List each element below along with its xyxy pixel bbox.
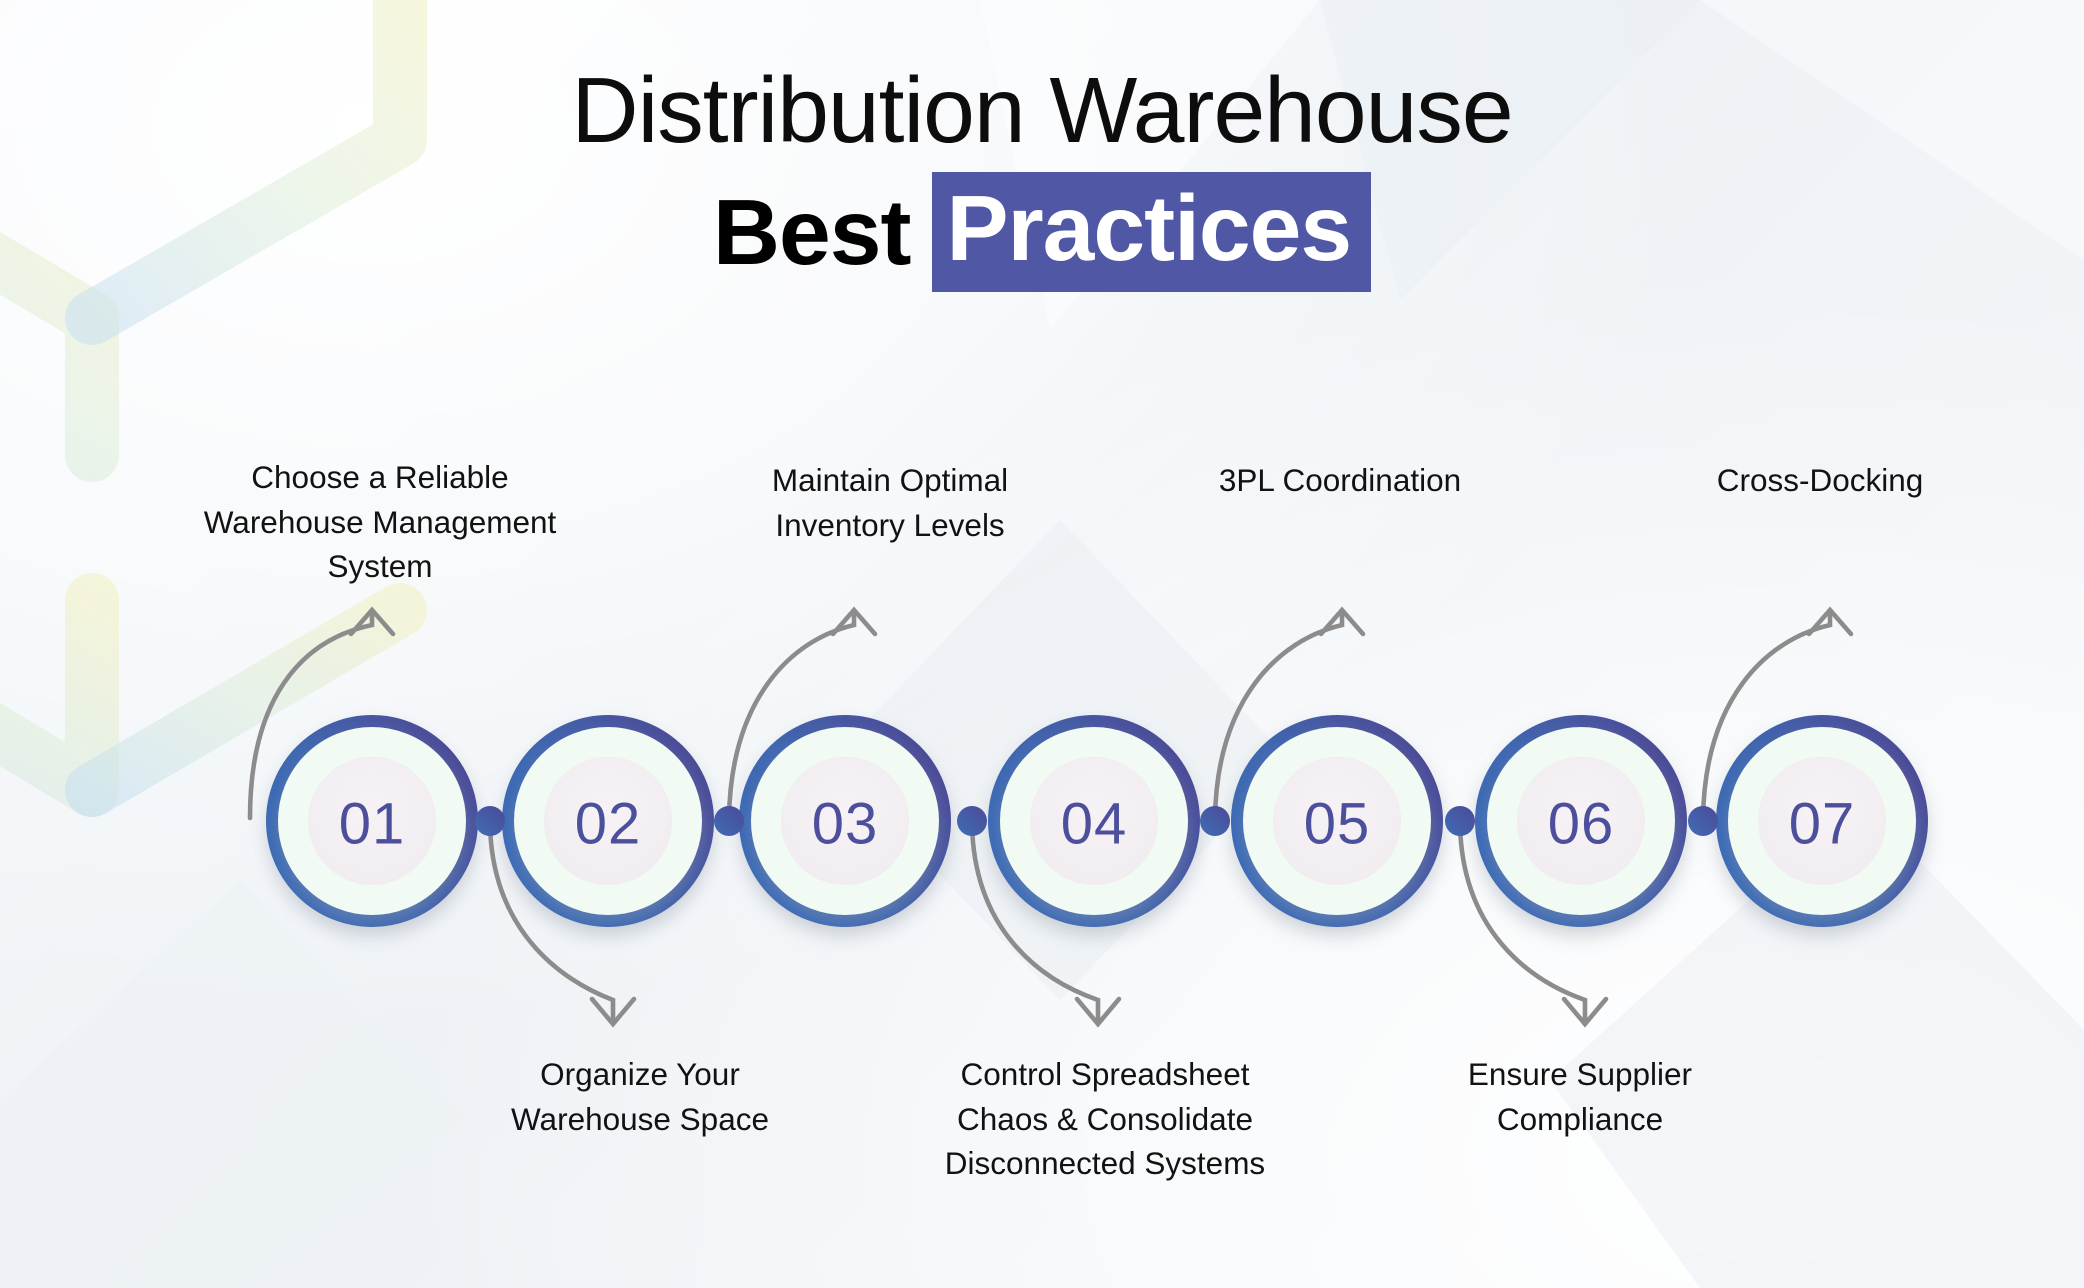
label-line: 3PL Coordination [1120, 458, 1560, 503]
label-line: Inventory Levels [655, 503, 1125, 548]
step-label-03: Maintain OptimalInventory Levels [655, 458, 1125, 547]
step-label-02: Organize YourWarehouse Space [415, 1052, 865, 1141]
label-line: Ensure Supplier [1370, 1052, 1790, 1097]
label-line: System [110, 544, 650, 589]
step-label-05: 3PL Coordination [1120, 458, 1560, 503]
label-line: Compliance [1370, 1097, 1790, 1142]
label-line: Warehouse Management [110, 500, 650, 545]
page-title-bold-word: Best [713, 180, 933, 284]
label-line: Control Spreadsheet [860, 1052, 1350, 1097]
page-heading: Distribution Warehouse Best Practices [0, 58, 2084, 292]
label-line: Chaos & Consolidate [860, 1097, 1350, 1142]
page-title-highlight-word: Practices [932, 172, 1371, 292]
step-label-06: Ensure SupplierCompliance [1370, 1052, 1790, 1141]
label-line: Choose a Reliable [110, 455, 650, 500]
step-label-07: Cross-Docking [1610, 458, 2030, 503]
label-line: Warehouse Space [415, 1097, 865, 1142]
page-title-line2: Best Practices [0, 172, 2084, 292]
page-title-line1: Distribution Warehouse [0, 58, 2084, 162]
label-line: Organize Your [415, 1052, 865, 1097]
label-line: Maintain Optimal [655, 458, 1125, 503]
label-line: Cross-Docking [1610, 458, 2030, 503]
step-label-04: Control SpreadsheetChaos & ConsolidateDi… [860, 1052, 1350, 1186]
label-line: Disconnected Systems [860, 1141, 1350, 1186]
step-label-01: Choose a ReliableWarehouse ManagementSys… [110, 455, 650, 589]
